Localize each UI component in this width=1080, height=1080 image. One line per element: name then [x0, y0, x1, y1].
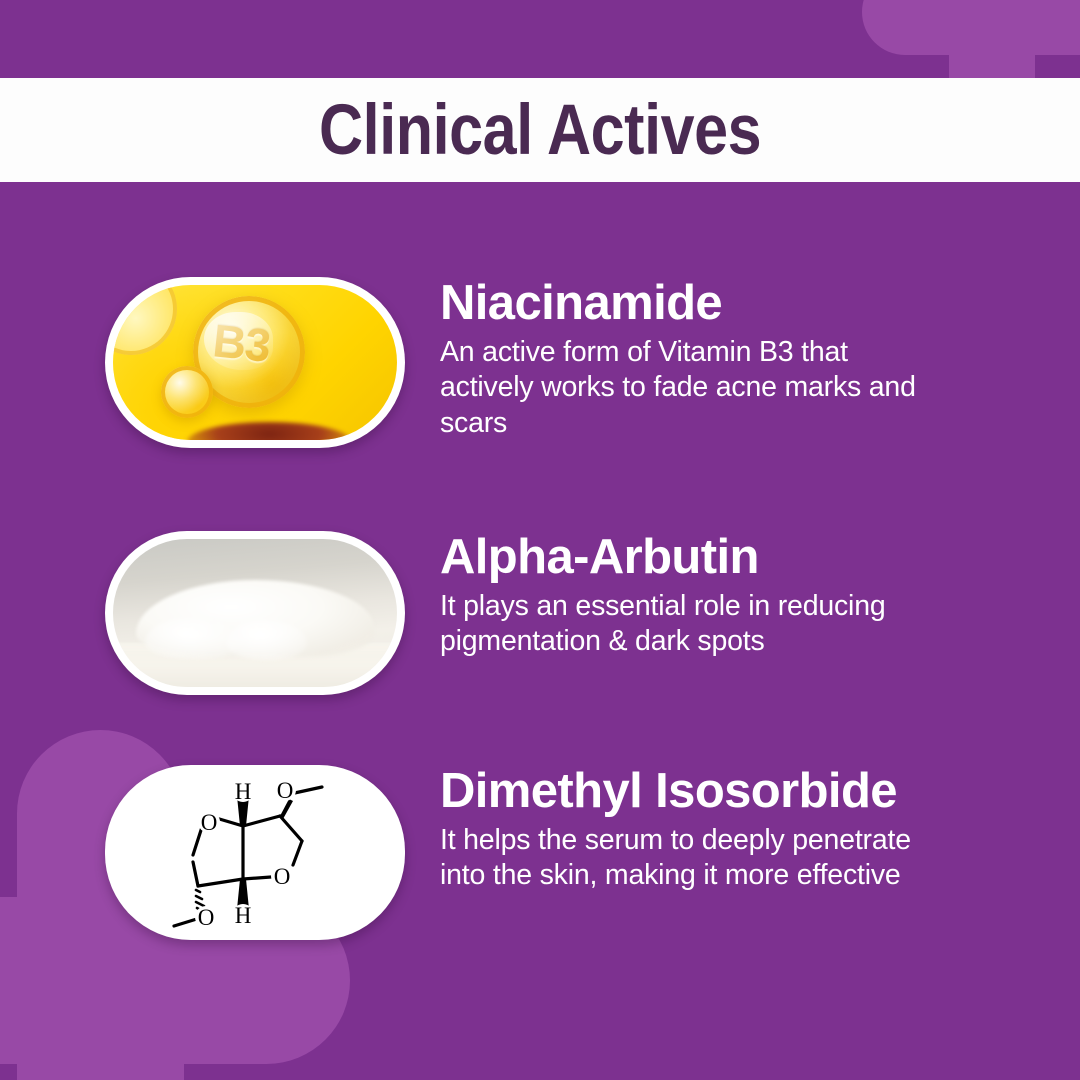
- infographic-canvas: Clinical Actives B3 Niacinamide: [0, 0, 1080, 1080]
- atom-label-o: O: [274, 864, 291, 889]
- droplet-icon: [161, 366, 213, 418]
- ingredient-name: Alpha-Arbutin: [440, 533, 970, 583]
- ingredient-name: Niacinamide: [440, 279, 940, 329]
- vitamin-b3-droplet-image: B3: [113, 285, 397, 440]
- ingredient-thumbnail-dimethyl-isosorbide: O H O O H O: [105, 765, 405, 940]
- chemical-structure-image: O H O O H O: [113, 773, 397, 932]
- atom-label-o: O: [277, 778, 294, 803]
- list-item: Alpha-Arbutin It plays an essential role…: [0, 531, 1080, 695]
- list-item: B3 Niacinamide An active form of Vitamin…: [0, 277, 1080, 448]
- header-band: Clinical Actives: [0, 78, 1080, 182]
- ingredient-description: It plays an essential role in reducing p…: [440, 589, 970, 660]
- molecule-diagram-icon: O H O O H O: [130, 778, 380, 928]
- ingredient-text-block: Niacinamide An active form of Vitamin B3…: [440, 277, 940, 441]
- ingredient-text-block: Alpha-Arbutin It plays an essential role…: [440, 531, 970, 660]
- ingredient-thumbnail-niacinamide: B3: [105, 277, 405, 448]
- ingredient-thumbnail-alpha-arbutin: [105, 531, 405, 695]
- atom-label-o: O: [198, 905, 215, 928]
- thumbnail-image-frame: O H O O H O: [113, 773, 397, 932]
- white-powder-image: [113, 539, 397, 687]
- atom-label-h: H: [235, 779, 252, 804]
- ingredient-text-block: Dimethyl Isosorbide It helps the serum t…: [440, 765, 920, 894]
- b3-label: B3: [210, 318, 271, 370]
- thumbnail-image-frame: B3: [113, 285, 397, 440]
- droplet-shadow: [187, 422, 352, 440]
- ingredient-description: An active form of Vitamin B3 that active…: [440, 335, 940, 441]
- droplet-icon: [113, 285, 177, 355]
- thumbnail-image-frame: [113, 539, 397, 687]
- ingredient-description: It helps the serum to deeply penetrate i…: [440, 823, 920, 894]
- decorative-bar-horizontal: [862, 0, 1080, 55]
- powder-heap: [136, 580, 375, 657]
- page-title: Clinical Actives: [319, 95, 761, 166]
- atom-label-h: H: [235, 903, 252, 928]
- atom-label-o: O: [201, 810, 218, 835]
- list-item: O H O O H O: [0, 765, 1080, 940]
- ingredient-name: Dimethyl Isosorbide: [440, 767, 920, 817]
